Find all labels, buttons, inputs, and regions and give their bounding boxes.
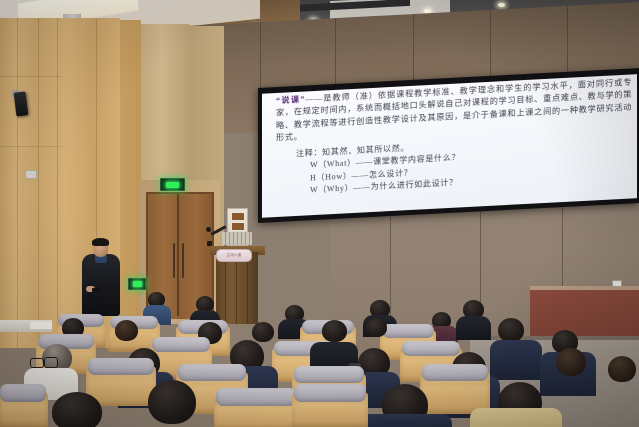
door-handle[interactable] xyxy=(173,243,175,278)
door-center-seam xyxy=(177,194,179,316)
audience-head xyxy=(366,318,387,337)
audience-head xyxy=(608,356,636,382)
audience-body xyxy=(360,414,452,427)
exit-sign-glow xyxy=(166,182,179,188)
eyeglasses-icon xyxy=(30,358,44,368)
slide-content: “说课”——是教师（准）依据课程教学标准、教学理念和学生的学习水平，面对同行或专… xyxy=(262,76,638,218)
audience-body xyxy=(490,340,542,380)
seat-headrest xyxy=(152,337,210,352)
presenter-hair xyxy=(92,238,109,246)
eyeglasses-icon xyxy=(44,357,58,368)
audience-head xyxy=(252,322,274,342)
presenter-body xyxy=(82,254,120,316)
audience-body xyxy=(456,316,491,340)
paper-sheet xyxy=(30,322,52,329)
door-handle[interactable] xyxy=(182,243,184,278)
exit-sign-glow xyxy=(133,281,142,287)
lecture-hall-photo: “说课”——是教师（准）依据课程教学标准、教学理念和学生的学习水平，面对同行或专… xyxy=(0,0,639,427)
podium-equipment-rack xyxy=(222,232,252,245)
audience-body xyxy=(470,408,562,427)
audience-head xyxy=(322,320,347,342)
seat-headrest xyxy=(88,358,154,375)
downlight-icon xyxy=(498,3,505,7)
slide-keyword: “说课” xyxy=(276,95,305,106)
audience-head xyxy=(498,318,524,342)
podium[interactable] xyxy=(216,252,258,324)
exit-sign-icon xyxy=(128,278,146,290)
audience-head xyxy=(115,320,138,341)
exit-sign-icon xyxy=(160,178,185,191)
handheld-device xyxy=(92,288,101,292)
seat-headrest xyxy=(294,384,366,402)
seat-headrest xyxy=(178,364,246,381)
seat-headrest xyxy=(422,364,488,381)
microphone-head-icon xyxy=(206,227,211,232)
seat-headrest xyxy=(216,388,296,406)
seat-headrest xyxy=(382,324,434,338)
seat-headrest xyxy=(294,366,364,383)
seat-headrest xyxy=(402,341,460,356)
podium-nameplate-text: 主持人席 xyxy=(226,253,241,258)
audience-head xyxy=(52,392,102,427)
audience-head xyxy=(148,380,196,424)
podium-nameplate: 主持人席 xyxy=(216,249,252,262)
wall-plate xyxy=(25,170,37,179)
audience-head xyxy=(556,348,586,376)
seat-headrest xyxy=(0,384,46,402)
